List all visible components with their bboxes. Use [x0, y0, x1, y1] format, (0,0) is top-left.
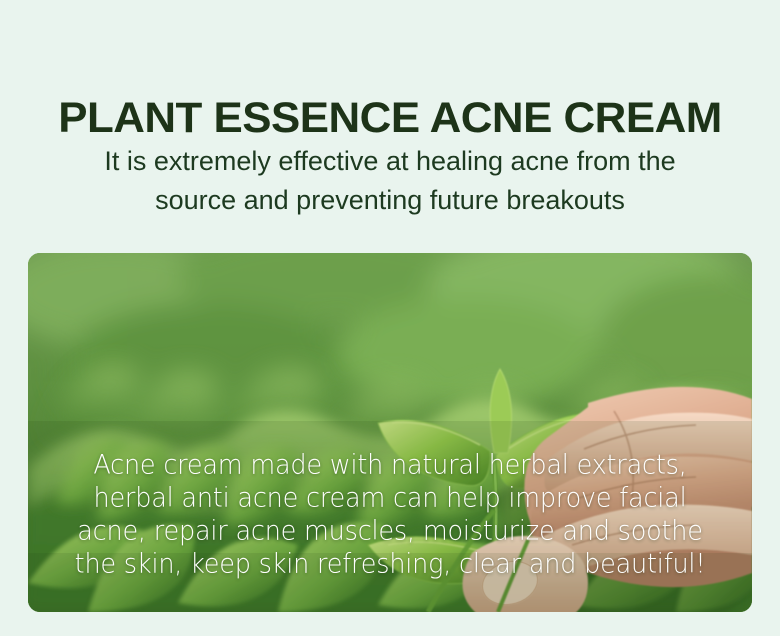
product-banner: PLANT ESSENCE ACNE CREAM It is extremely…	[0, 0, 780, 636]
caption-line-2: herbal anti acne cream can help improve …	[28, 481, 752, 516]
subtitle: It is extremely effective at healing acn…	[50, 142, 730, 220]
photo-caption: Acne cream made with natural herbal extr…	[28, 449, 752, 581]
caption-line-3: acne, repair acne muscles, moisturize an…	[28, 514, 752, 549]
subtitle-line-1: It is extremely effective at healing acn…	[50, 142, 730, 181]
caption-line-1: Acne cream made with natural herbal extr…	[28, 448, 752, 483]
caption-line-4: the skin, keep skin refreshing, clear an…	[28, 547, 752, 582]
page-title: PLANT ESSENCE ACNE CREAM	[0, 93, 780, 143]
tea-leaf-photo: Acne cream made with natural herbal extr…	[28, 253, 752, 612]
subtitle-line-2: source and preventing future breakouts	[50, 181, 730, 220]
